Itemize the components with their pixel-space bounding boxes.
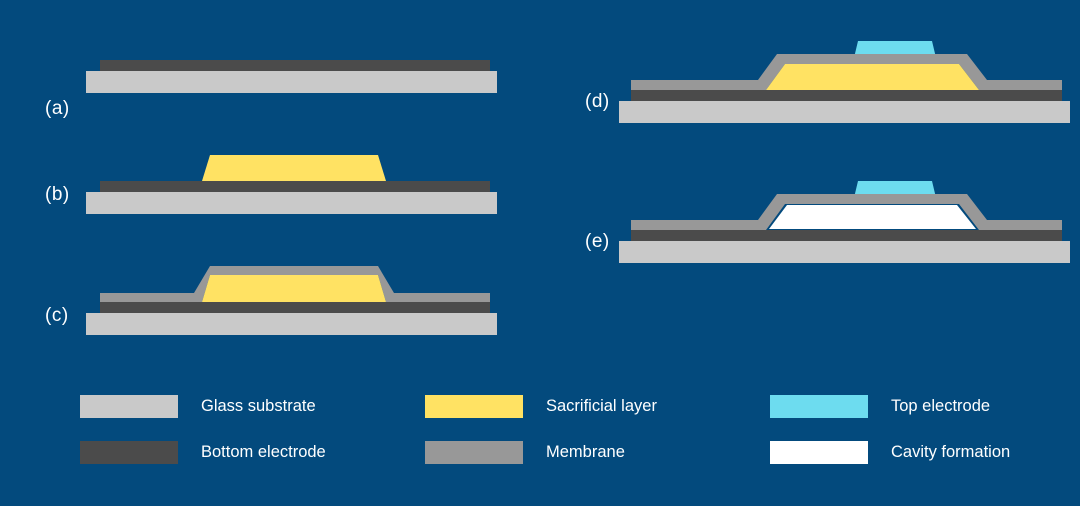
legend: Glass substrate Bottom electrode Sacrifi… xyxy=(80,386,1040,476)
legend-item-cavity-formation: Cavity formation xyxy=(770,440,1010,464)
legend-item-bottom-electrode: Bottom electrode xyxy=(80,440,326,464)
panel-c-label: (c) xyxy=(45,305,69,327)
glass-substrate-layer xyxy=(86,192,497,214)
bottom-electrode-layer xyxy=(100,181,490,192)
figure-canvas: (a) (b) (c) (d) xyxy=(0,0,1080,506)
bottom-electrode-layer xyxy=(631,230,1062,241)
legend-column-3: Top electrode Cavity formation xyxy=(770,386,1080,476)
legend-column-2: Sacrificial layer Membrane xyxy=(425,386,755,476)
panel-e-label: (e) xyxy=(585,231,610,253)
legend-label-top-electrode: Top electrode xyxy=(891,397,990,416)
glass-substrate-layer xyxy=(619,101,1070,123)
legend-label-membrane: Membrane xyxy=(546,443,625,462)
legend-item-top-electrode: Top electrode xyxy=(770,394,990,418)
panel-a-label: (a) xyxy=(45,98,70,120)
panel-e: (e) xyxy=(540,165,1080,275)
bottom-electrode-layer xyxy=(631,90,1062,101)
top-electrode-swatch xyxy=(770,395,868,418)
glass-substrate-swatch xyxy=(80,395,178,418)
glass-substrate-layer xyxy=(86,71,497,93)
panel-d-label: (d) xyxy=(585,91,610,113)
bottom-electrode-swatch xyxy=(80,441,178,464)
legend-label-cavity-formation: Cavity formation xyxy=(891,443,1010,462)
panel-a-diagram xyxy=(80,50,510,100)
panel-a: (a) xyxy=(0,40,520,100)
legend-label-sacrificial-layer: Sacrificial layer xyxy=(546,397,657,416)
bottom-electrode-layer xyxy=(100,60,490,71)
panel-d-diagram xyxy=(615,25,1075,135)
bottom-electrode-layer xyxy=(100,302,490,313)
panel-c-diagram xyxy=(80,255,510,345)
legend-item-membrane: Membrane xyxy=(425,440,625,464)
sacrificial-layer-swatch xyxy=(425,395,523,418)
panel-b-diagram xyxy=(80,140,510,220)
legend-label-bottom-electrode: Bottom electrode xyxy=(201,443,326,462)
legend-item-sacrificial-layer: Sacrificial layer xyxy=(425,394,657,418)
legend-column-1: Glass substrate Bottom electrode xyxy=(80,386,410,476)
panel-e-diagram xyxy=(615,165,1075,275)
sacrificial-layer-shape xyxy=(202,275,386,302)
membrane-swatch xyxy=(425,441,523,464)
cavity-formation-shape xyxy=(769,205,976,229)
panel-d: (d) xyxy=(540,25,1080,135)
sacrificial-layer-shape xyxy=(202,155,386,181)
legend-item-glass-substrate: Glass substrate xyxy=(80,394,316,418)
panel-b-label: (b) xyxy=(45,184,70,206)
panel-c: (c) xyxy=(0,255,520,345)
glass-substrate-layer xyxy=(86,313,497,335)
sacrificial-layer-shape xyxy=(766,64,979,90)
glass-substrate-layer xyxy=(619,241,1070,263)
panel-b: (b) xyxy=(0,140,520,220)
cavity-formation-swatch xyxy=(770,441,868,464)
legend-label-glass-substrate: Glass substrate xyxy=(201,397,316,416)
